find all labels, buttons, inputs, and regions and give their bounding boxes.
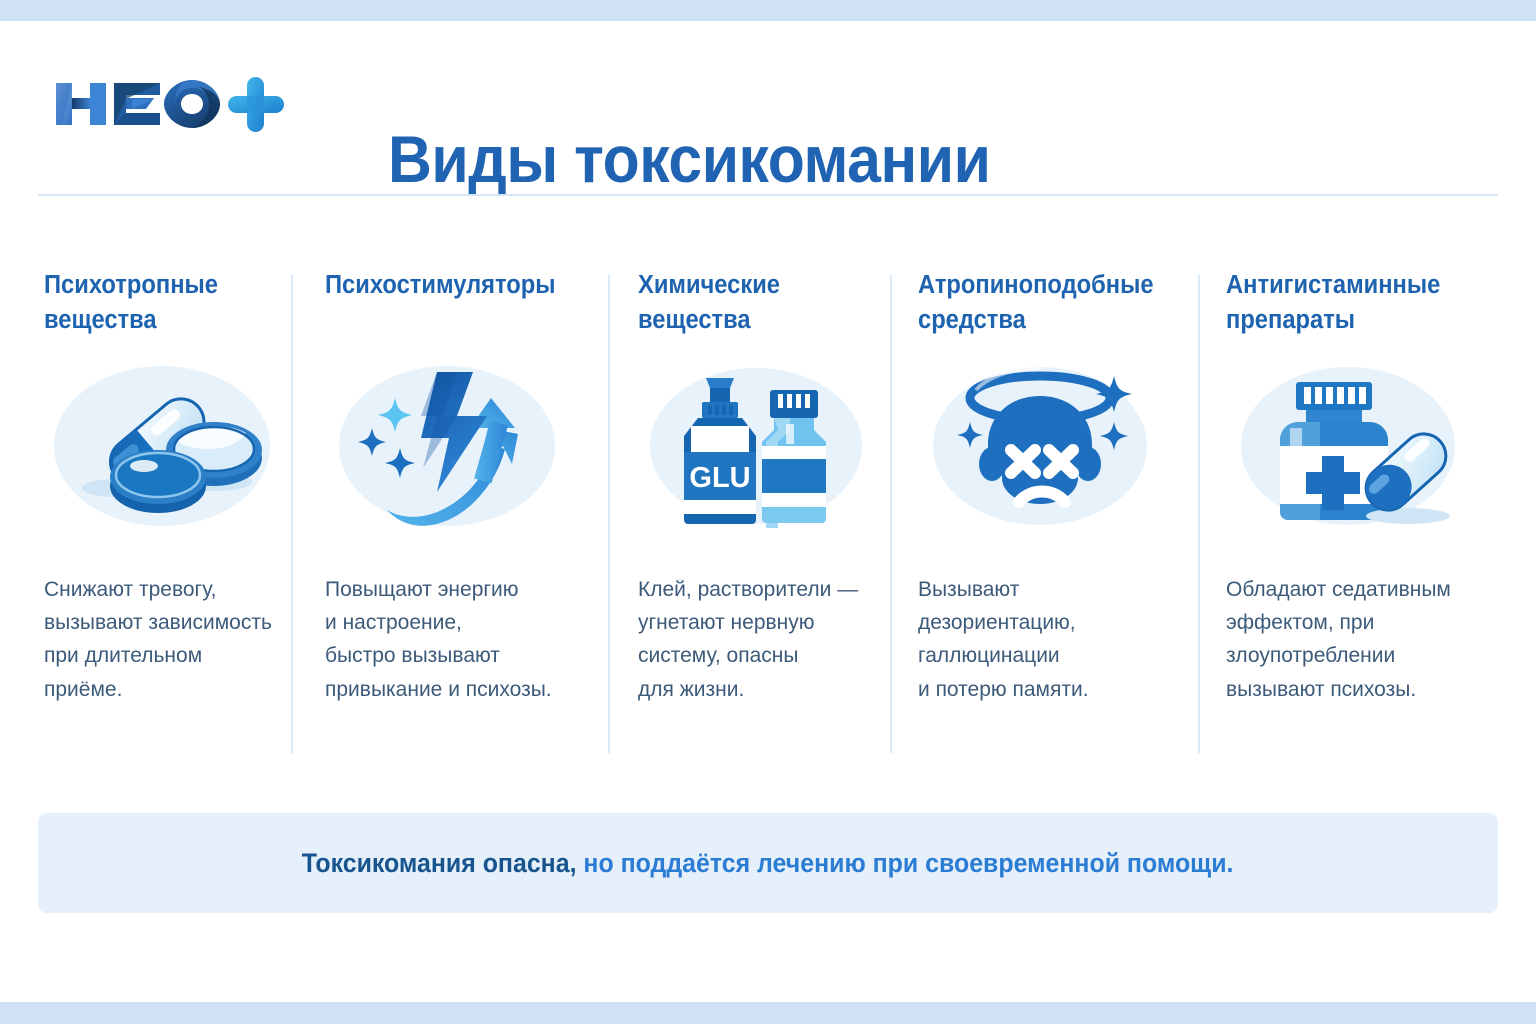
header-divider [38,194,1498,196]
column-heading-antihistamines: Антигистаминные препараты [1226,268,1498,338]
column-psychostimulants: Психостимуляторы [291,268,608,758]
column-divider [890,275,892,753]
column-body-chemical: Клей, растворители — угнетают нервную си… [638,573,872,706]
column-antihistamines: Антигистаминные препараты [1198,268,1536,758]
column-atropine-like: Атропиноподобные средства [890,268,1198,758]
dizzy-face-icon [918,360,1180,535]
column-heading-psychotropic: Психотропные вещества [44,268,257,338]
bottom-accent-band [0,1002,1536,1024]
glue-solvent-bottles-icon: GLU [638,360,872,535]
infographic-page: Виды токсикомании Психотропные вещества [0,0,1536,1024]
medicine-bottle-capsule-icon [1226,360,1518,535]
column-heading-atropine: Атропиноподобные средства [918,268,1162,338]
column-body-antihistamines: Обладают седативным эффектом, при злоупо… [1226,573,1518,706]
lightning-bolt-arrow-icon [325,360,590,535]
pills-capsule-icon [44,360,273,535]
column-divider [1198,275,1200,753]
neo-plus-logo [50,69,290,139]
top-accent-band [0,0,1536,21]
page-title: Виды токсикомании [388,121,990,197]
footer-message: Токсикомания опасна, но поддаётся лечени… [302,848,1234,879]
column-body-psychotropic: Снижают тревогу, вызывают зависимость пр… [44,573,273,706]
column-psychotropic: Психотропные вещества [0,268,291,758]
column-heading-psychostimulants: Психостимуляторы [325,268,571,338]
column-body-psychostimulants: Повыщают энергию и настроение, быстро вы… [325,573,590,706]
footer-light-text: но поддаётся лечению при своевременной п… [577,848,1234,878]
category-columns: Психотропные вещества [0,268,1536,758]
column-chemical-substances: Химические вещества [608,268,890,758]
glue-bottle-label: GLU [689,462,750,494]
column-divider [291,275,293,753]
column-heading-chemical: Химические вещества [638,268,856,338]
footer-strong-text: Токсикомания опасна, [302,848,577,878]
column-body-atropine: Вызывают дезориентацию, галлюцинации и п… [918,573,1180,706]
header: Виды токсикомании [0,21,1536,194]
column-divider [608,275,610,753]
footer-banner: Токсикомания опасна, но поддаётся лечени… [38,813,1498,913]
